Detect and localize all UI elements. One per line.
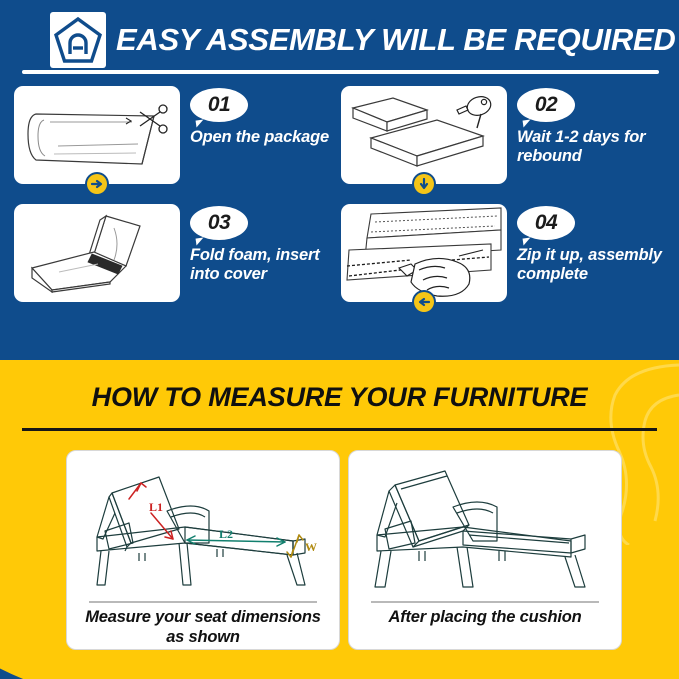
step-number-bubble: 01: [190, 88, 248, 122]
step-item: 03 Fold foam, insert into cover: [14, 204, 344, 314]
step-label: Wait 1-2 days for rebound: [517, 128, 671, 166]
step-item: 04 Zip it up, assembly complete: [341, 204, 671, 314]
svg-text:L2: L2: [219, 527, 233, 541]
house-pentagon-icon: [50, 12, 106, 68]
folded-foam-into-cover-icon: [14, 204, 180, 302]
step-label: Zip it up, assembly complete: [517, 246, 671, 284]
step-number-bubble: 02: [517, 88, 575, 122]
header-divider: [22, 70, 659, 74]
card-divider: [371, 601, 599, 603]
measure-card-cushion: After placing the cushion: [348, 450, 622, 650]
measure-divider: [22, 428, 657, 431]
step-item: 02 Wait 1-2 days for rebound: [341, 86, 671, 196]
step-number-bubble: 04: [517, 206, 575, 240]
arrow-right-icon: [87, 174, 107, 194]
step-label: Open the package: [190, 128, 344, 147]
corner-blue-accent: [0, 579, 200, 679]
rolled-package-with-scissors-icon: [14, 86, 180, 184]
svg-text:W: W: [305, 540, 317, 554]
step-text: 02 Wait 1-2 days for rebound: [517, 88, 671, 166]
step-text: 04 Zip it up, assembly complete: [517, 206, 671, 284]
step-item: 01 Open the package: [14, 86, 344, 196]
foam-cushions-with-hairdryer-icon: [341, 86, 507, 184]
step-label: Fold foam, insert into cover: [190, 246, 344, 284]
card-caption: After placing the cushion: [357, 607, 613, 627]
hand-zipping-cushion-icon: [341, 204, 507, 302]
svg-text:L1: L1: [149, 500, 163, 514]
step-text: 03 Fold foam, insert into cover: [190, 206, 344, 284]
infographic-page: EASY ASSEMBLY WILL BE REQUIRED: [0, 0, 679, 679]
page-title: EASY ASSEMBLY WILL BE REQUIRED: [116, 16, 661, 64]
assembly-section: EASY ASSEMBLY WILL BE REQUIRED: [0, 0, 679, 360]
arrow-down-icon: [414, 174, 434, 194]
assembly-steps: 01 Open the package: [0, 86, 679, 318]
chaise-lounge-with-cushion-icon: [349, 451, 621, 601]
assembly-header: EASY ASSEMBLY WILL BE REQUIRED: [0, 0, 679, 80]
measure-section-title: HOW TO MEASURE YOUR FURNITURE: [0, 382, 679, 413]
arrow-left-icon: [414, 292, 434, 312]
step-text: 01 Open the package: [190, 88, 344, 147]
step-number-bubble: 03: [190, 206, 248, 240]
